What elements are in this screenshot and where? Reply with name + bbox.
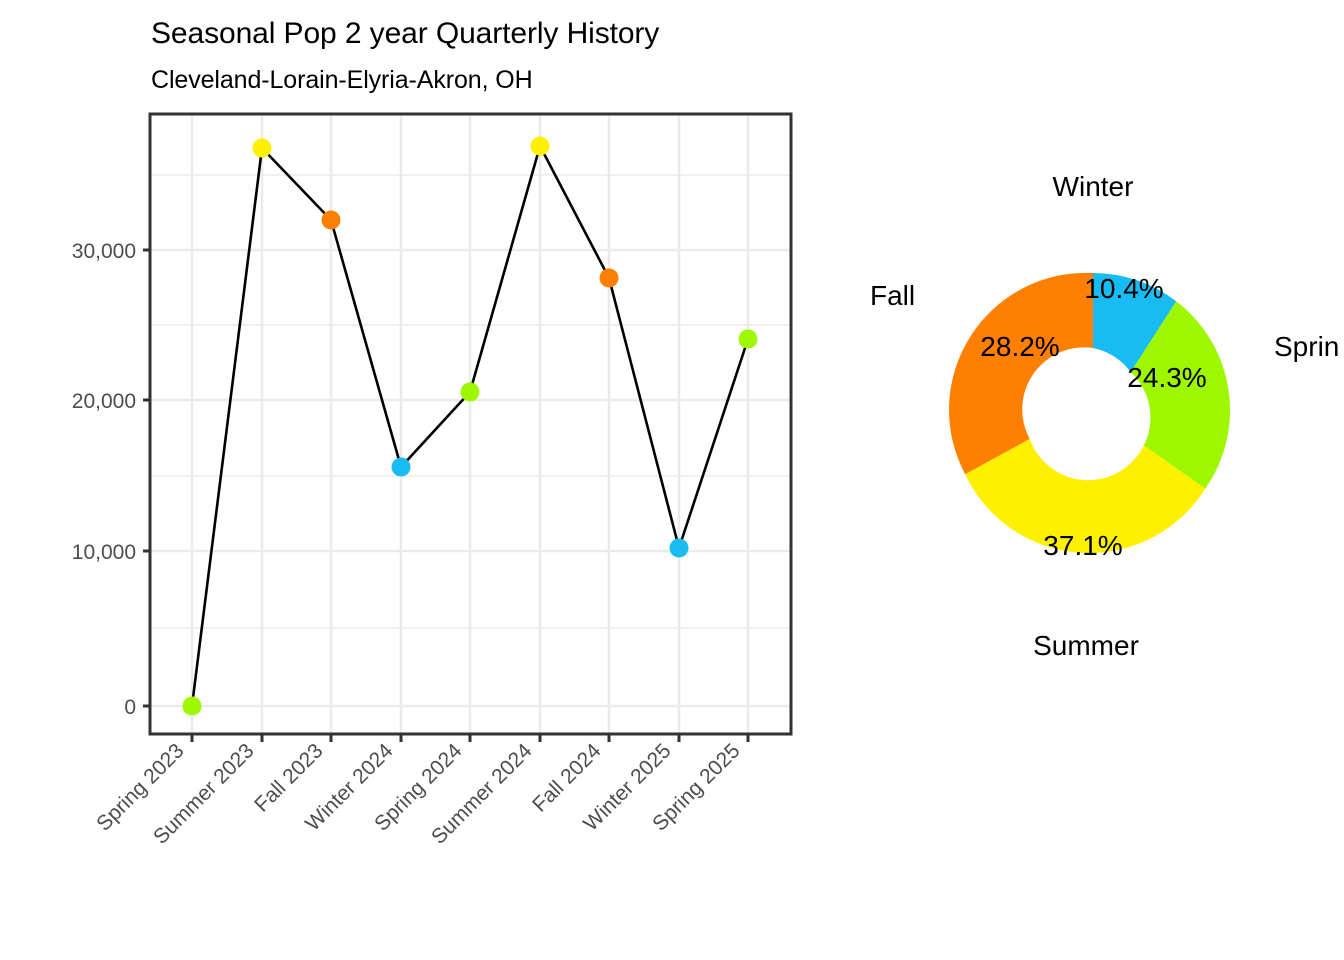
data-point-spring-2025[interactable]	[739, 330, 758, 349]
line-chart-svg: 30,000 20,000 10,000 0 Spring 2023	[0, 0, 840, 960]
donut-value-fall: 28.2%	[980, 331, 1059, 362]
donut-label-spring: Sprin	[1274, 331, 1339, 362]
data-point-fall-2023[interactable]	[322, 211, 341, 230]
y-tick-label-0: 0	[124, 696, 136, 719]
data-point-winter-2024[interactable]	[392, 458, 411, 477]
data-point-fall-2024[interactable]	[600, 269, 619, 288]
donut-chart-panel: 10.4% 24.3% 37.1% 28.2% Winter Sprin Sum…	[840, 0, 1344, 960]
y-tick-label-20000: 20,000	[72, 390, 136, 413]
x-axis-tick-labels: Spring 2023 Summer 2023 Fall 2023 Winter…	[92, 739, 744, 849]
line-chart-panel: 30,000 20,000 10,000 0 Spring 2023	[0, 0, 840, 960]
donut-label-fall: Fall	[870, 280, 915, 311]
data-point-summer-2023[interactable]	[253, 139, 272, 158]
y-tick-label-10000: 10,000	[72, 541, 136, 564]
donut-slices	[949, 273, 1230, 553]
donut-value-winter: 10.4%	[1084, 273, 1163, 304]
donut-label-winter: Winter	[1053, 171, 1134, 202]
y-axis-tick-labels: 30,000 20,000 10,000 0	[72, 240, 136, 719]
donut-chart-svg: 10.4% 24.3% 37.1% 28.2% Winter Sprin Sum…	[840, 0, 1344, 960]
donut-category-labels: Winter Sprin Summer Fall	[870, 171, 1339, 661]
y-tick-label-30000: 30,000	[72, 240, 136, 263]
data-point-spring-2024[interactable]	[461, 383, 480, 402]
donut-value-summer: 37.1%	[1043, 530, 1122, 561]
data-point-spring-2023[interactable]	[183, 697, 202, 716]
donut-label-summer: Summer	[1033, 630, 1139, 661]
chart-canvas: Seasonal Pop 2 year Quarterly History Cl…	[0, 0, 1344, 960]
data-point-summer-2024[interactable]	[531, 137, 550, 156]
donut-value-spring: 24.3%	[1127, 362, 1206, 393]
data-point-winter-2025[interactable]	[670, 539, 689, 558]
